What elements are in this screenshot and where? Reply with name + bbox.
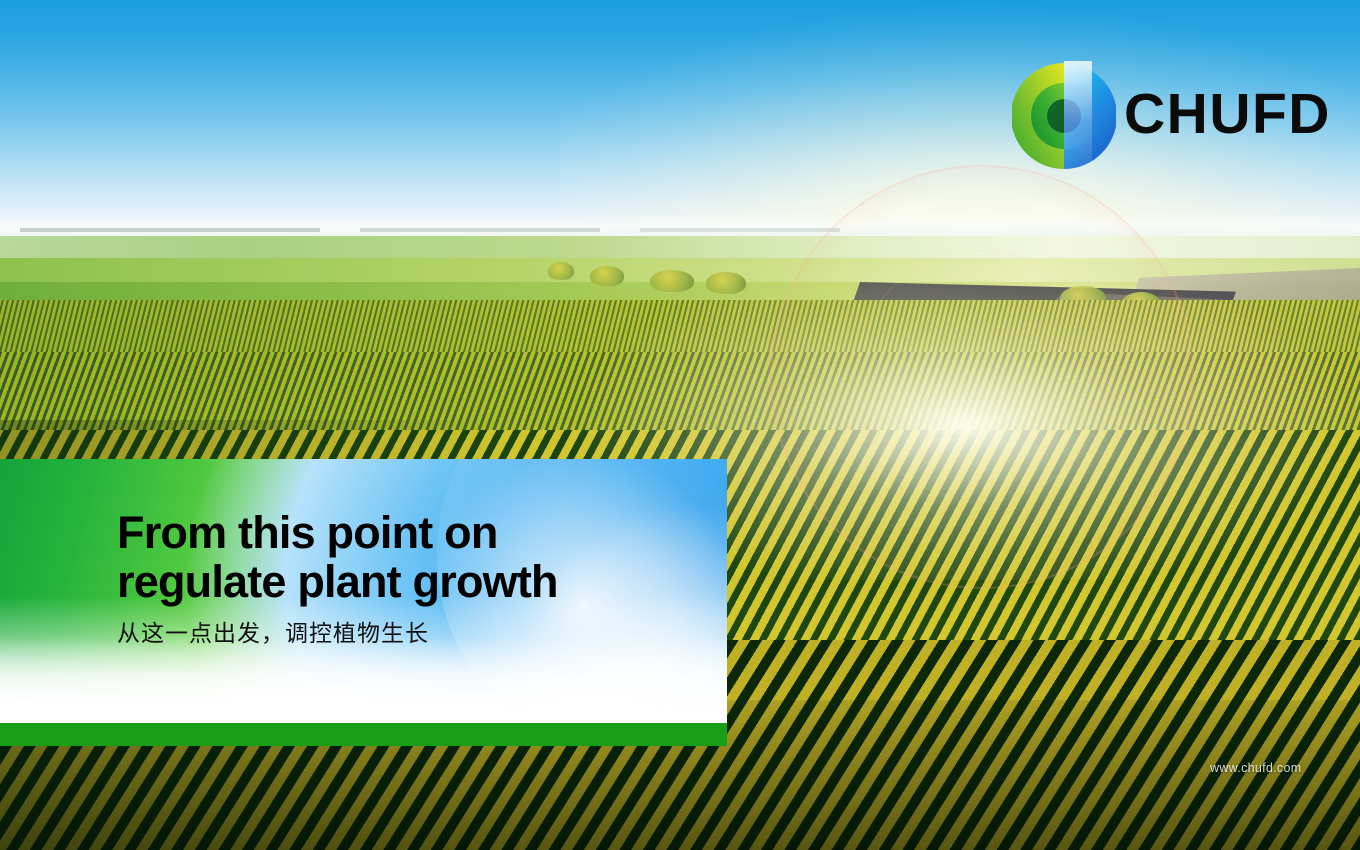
brand-wordmark: CHUFD: [1124, 84, 1331, 144]
panel-bottom-fade: [0, 637, 727, 723]
distant-treeline: [20, 228, 320, 232]
distant-treeline: [360, 228, 600, 232]
headline-line-1: From this point on: [117, 507, 498, 558]
accent-green-bar: [0, 723, 727, 746]
distant-treeline: [640, 228, 840, 232]
slide-canvas: CHUFD From this point on regulate plant …: [0, 0, 1360, 850]
brand-logo[interactable]: CHUFD: [1012, 57, 1294, 175]
headline-panel: From this point on regulate plant growth…: [0, 459, 727, 723]
tree-clump: [548, 262, 574, 280]
tree-clump: [590, 266, 624, 286]
headline-line-2: regulate plant growth: [117, 557, 558, 606]
chufd-circle-logo-icon: [1012, 57, 1116, 175]
tree-clump: [706, 272, 746, 294]
tree-clump: [650, 270, 694, 292]
website-watermark[interactable]: www.chufd.com: [1210, 761, 1301, 775]
panel-text-block: From this point on regulate plant growth…: [117, 508, 558, 649]
page-title: From this point on regulate plant growth: [117, 508, 558, 606]
subheadline: 从这一点出发，调控植物生长: [117, 619, 558, 649]
